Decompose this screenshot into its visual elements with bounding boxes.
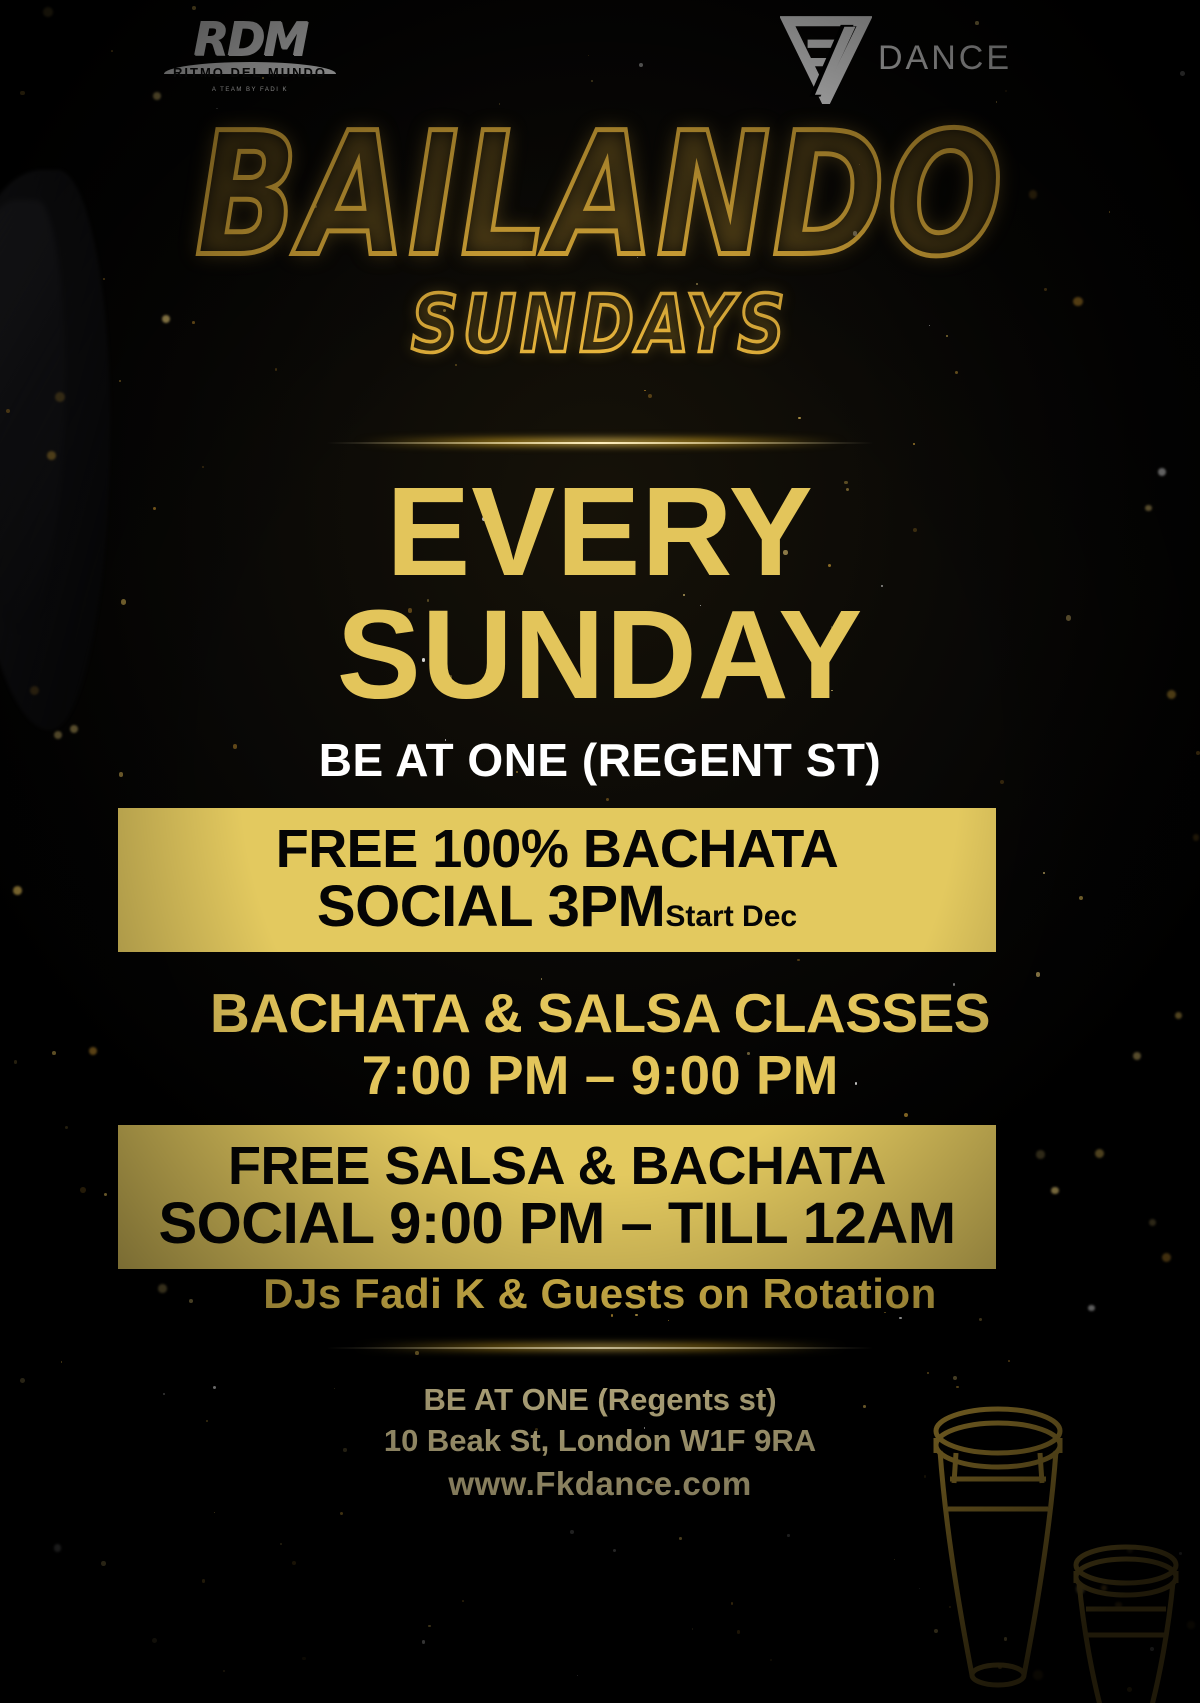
fk-dance-word: DANCE	[878, 39, 1012, 78]
banner1-note: Start Dec	[665, 900, 797, 933]
headline-sunday: SUNDAY	[0, 593, 1200, 716]
banner1-line1: FREE 100% BACHATA	[118, 822, 996, 877]
title-bailando: BAILANDO	[0, 111, 1200, 281]
divider-line	[327, 442, 873, 444]
banner-bachata-social: FREE 100% BACHATA SOCIAL 3PMStart Dec	[118, 808, 996, 952]
headline-venue: BE AT ONE (REGENT ST)	[0, 733, 1200, 787]
rdm-logo: RDM RITMO DEL MUNDO A TEAM BY FADI K	[160, 18, 340, 93]
fk-dance-logo: DANCE	[780, 12, 1012, 104]
classes-title: BACHATA & SALSA CLASSES	[0, 985, 1200, 1043]
divider-top	[290, 430, 910, 456]
banner1-line2: SOCIAL 3PMStart Dec	[118, 877, 996, 936]
divider-bottom	[290, 1335, 910, 1361]
banner2-line2: SOCIAL 9:00 PM – TILL 12AM	[118, 1194, 996, 1253]
headline-every: EVERY	[0, 470, 1200, 593]
divider-line-bottom	[327, 1347, 873, 1349]
dj-lineup: DJs Fadi K & Guests on Rotation	[0, 1270, 1200, 1318]
banner2-line1: FREE SALSA & BACHATA	[118, 1139, 996, 1194]
fk-triangle-monogram-icon	[780, 12, 872, 104]
event-flyer: RDM RITMO DEL MUNDO A TEAM BY FADI K DAN…	[0, 0, 1200, 1703]
rdm-logo-tagline: A TEAM BY FADI K	[160, 87, 340, 93]
classes-block: BACHATA & SALSA CLASSES 7:00 PM – 9:00 P…	[0, 985, 1200, 1107]
headline-block: EVERY SUNDAY BE AT ONE (REGENT ST)	[0, 430, 1200, 787]
rdm-logo-main: RDM	[160, 18, 340, 62]
flyer-title: BAILANDO SUNDAYS	[0, 128, 1200, 363]
conga-drums-illustration	[890, 1383, 1190, 1703]
title-sundays: SUNDAYS	[0, 278, 1200, 370]
rdm-logo-arc: RITMO DEL MUNDO	[160, 60, 340, 86]
classes-time: 7:00 PM – 9:00 PM	[0, 1043, 1200, 1107]
banner1-line2-text: SOCIAL 3PM	[317, 874, 665, 939]
rdm-logo-sub: RITMO DEL MUNDO	[160, 65, 340, 80]
banner-salsa-bachata-social: FREE SALSA & BACHATA SOCIAL 9:00 PM – TI…	[118, 1125, 996, 1269]
